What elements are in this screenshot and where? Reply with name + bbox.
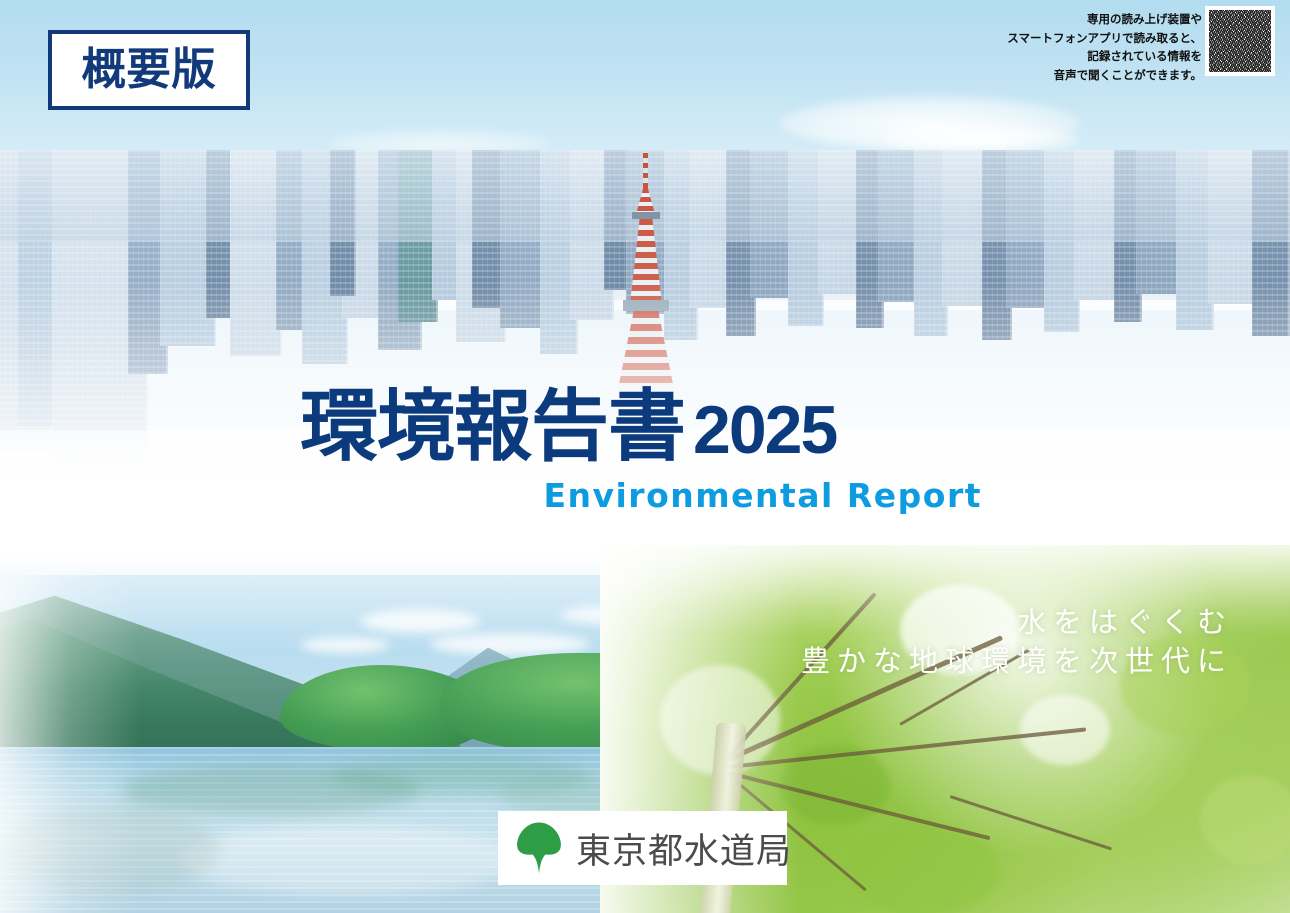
summary-edition-badge: 概要版 bbox=[48, 30, 250, 110]
organization-name: 東京都水道局 bbox=[576, 823, 792, 874]
organization-logo: 東京都水道局 bbox=[498, 811, 787, 885]
sp-code-note-line-1: 専用の読み上げ装置や bbox=[1007, 10, 1202, 29]
sp-code-note: 専用の読み上げ装置や スマートフォンアプリで読み取ると、 記録されている情報を … bbox=[1007, 10, 1202, 85]
sp-code-note-line-2: スマートフォンアプリで読み取ると、 bbox=[1007, 29, 1202, 48]
cover-tagline: 水をはぐくむ 豊かな地球環境を次世代に bbox=[801, 603, 1235, 682]
title-main-row: 環境報告書 2025 bbox=[300, 388, 1000, 466]
tagline-line-1: 水をはぐくむ bbox=[801, 603, 1235, 642]
title-year: 2025 bbox=[693, 396, 836, 464]
lake-left-fade bbox=[0, 575, 140, 913]
sp-code-pattern bbox=[1209, 10, 1271, 72]
title-english: Environmental Report bbox=[300, 476, 1000, 515]
cover-title: 環境報告書 2025 Environmental Report bbox=[300, 388, 1000, 515]
title-japanese: 環境報告書 bbox=[300, 388, 685, 466]
ginkgo-leaf-icon bbox=[516, 822, 562, 874]
tagline-line-2: 豊かな地球環境を次世代に bbox=[801, 642, 1235, 681]
sp-code-note-line-4: 音声で聞くことができます。 bbox=[1007, 66, 1202, 85]
summary-edition-label: 概要版 bbox=[82, 48, 217, 92]
sp-code-icon bbox=[1205, 6, 1275, 76]
report-cover: 概要版 専用の読み上げ装置や スマートフォンアプリで読み取ると、 記録されている… bbox=[0, 0, 1290, 913]
sp-code-note-line-3: 記録されている情報を bbox=[1007, 47, 1202, 66]
